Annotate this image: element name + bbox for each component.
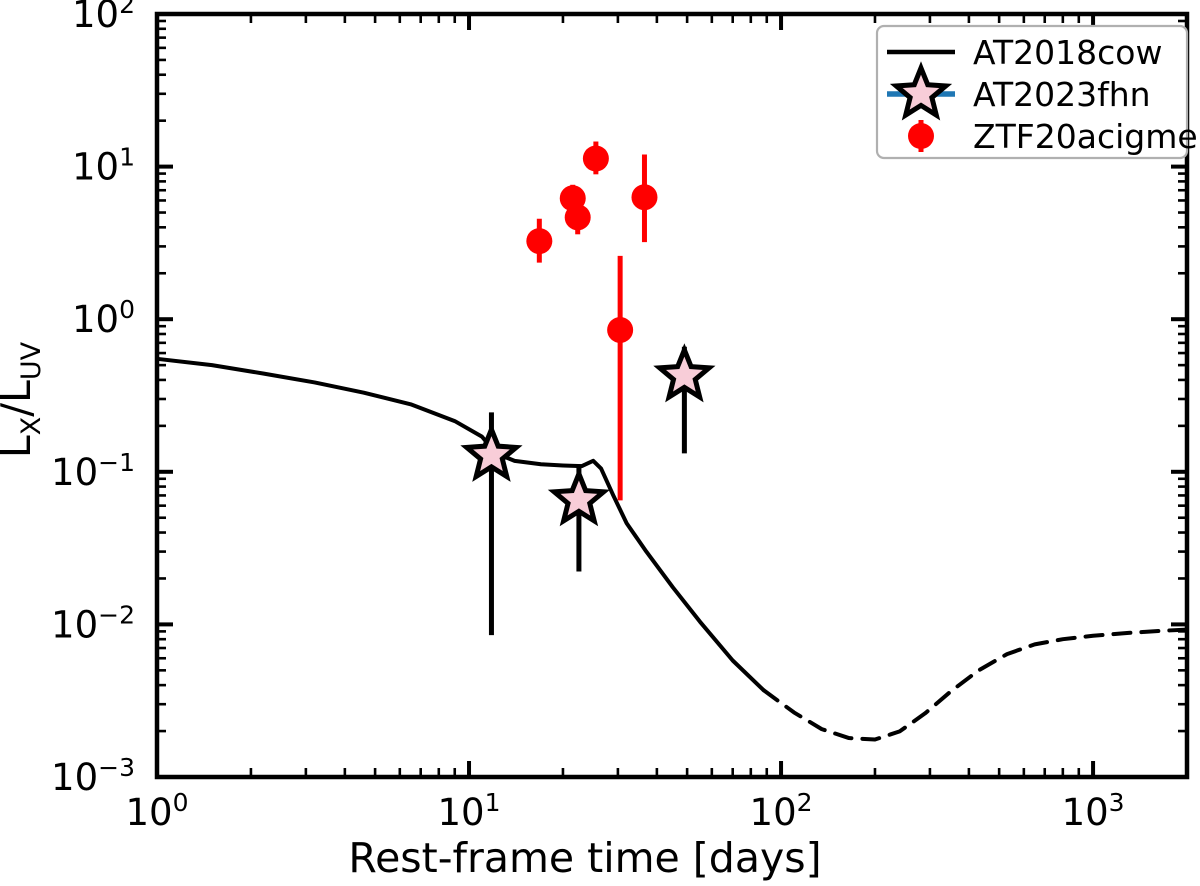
data-point-circle bbox=[631, 184, 657, 210]
y-tick-label: 101 bbox=[72, 143, 135, 189]
y-axis-title: LX/LUV bbox=[0, 341, 47, 458]
ylabel-slash: /L bbox=[0, 380, 40, 417]
x-tick-label: 101 bbox=[438, 788, 501, 834]
y-tick-label: 10−2 bbox=[51, 600, 135, 646]
legend-box[interactable]: AT2018cowAT2023fhnZTF20acigmel bbox=[877, 26, 1200, 158]
data-series-layer bbox=[157, 142, 1187, 740]
model-curve-dashed bbox=[764, 630, 1187, 740]
legend-label: AT2023fhn bbox=[973, 75, 1151, 114]
y-tick-label: 10−1 bbox=[51, 448, 135, 494]
x-axis-title: Rest-frame time [days] bbox=[348, 834, 821, 882]
y-tick-label: 102 bbox=[72, 0, 135, 36]
legend-label: ZTF20acigmel bbox=[973, 117, 1200, 156]
series-AT2018cow bbox=[157, 359, 1187, 740]
data-point-star bbox=[660, 350, 709, 397]
ylabel-main: L bbox=[0, 435, 40, 458]
data-point-circle bbox=[526, 228, 552, 254]
data-point-circle bbox=[583, 146, 609, 172]
ylabel-sub-uv: UV bbox=[16, 341, 47, 380]
legend-label: AT2018cow bbox=[973, 33, 1162, 72]
figure-canvas: 10010110210310−310−210−1100101102 AT2018… bbox=[0, 0, 1200, 886]
data-point-circle bbox=[607, 317, 633, 343]
svg-text:LX/LUV: LX/LUV bbox=[0, 341, 47, 458]
series-ZTF20acigmel bbox=[526, 142, 657, 501]
y-tick-label: 100 bbox=[72, 295, 135, 341]
model-curve-solid bbox=[157, 359, 764, 690]
x-tick-label: 100 bbox=[126, 788, 189, 834]
plot-svg: 10010110210310−310−210−1100101102 AT2018… bbox=[0, 0, 1200, 886]
x-tick-label: 103 bbox=[1062, 788, 1125, 834]
data-point-star bbox=[467, 429, 516, 476]
y-tick-label: 10−3 bbox=[51, 753, 135, 799]
legend-circle-swatch bbox=[908, 123, 934, 149]
data-point-circle bbox=[565, 204, 591, 230]
x-tick-label: 102 bbox=[750, 788, 813, 834]
data-point-star bbox=[554, 474, 603, 521]
series-AT2023fhn bbox=[467, 347, 709, 635]
ylabel-sub-x: X bbox=[16, 417, 47, 436]
